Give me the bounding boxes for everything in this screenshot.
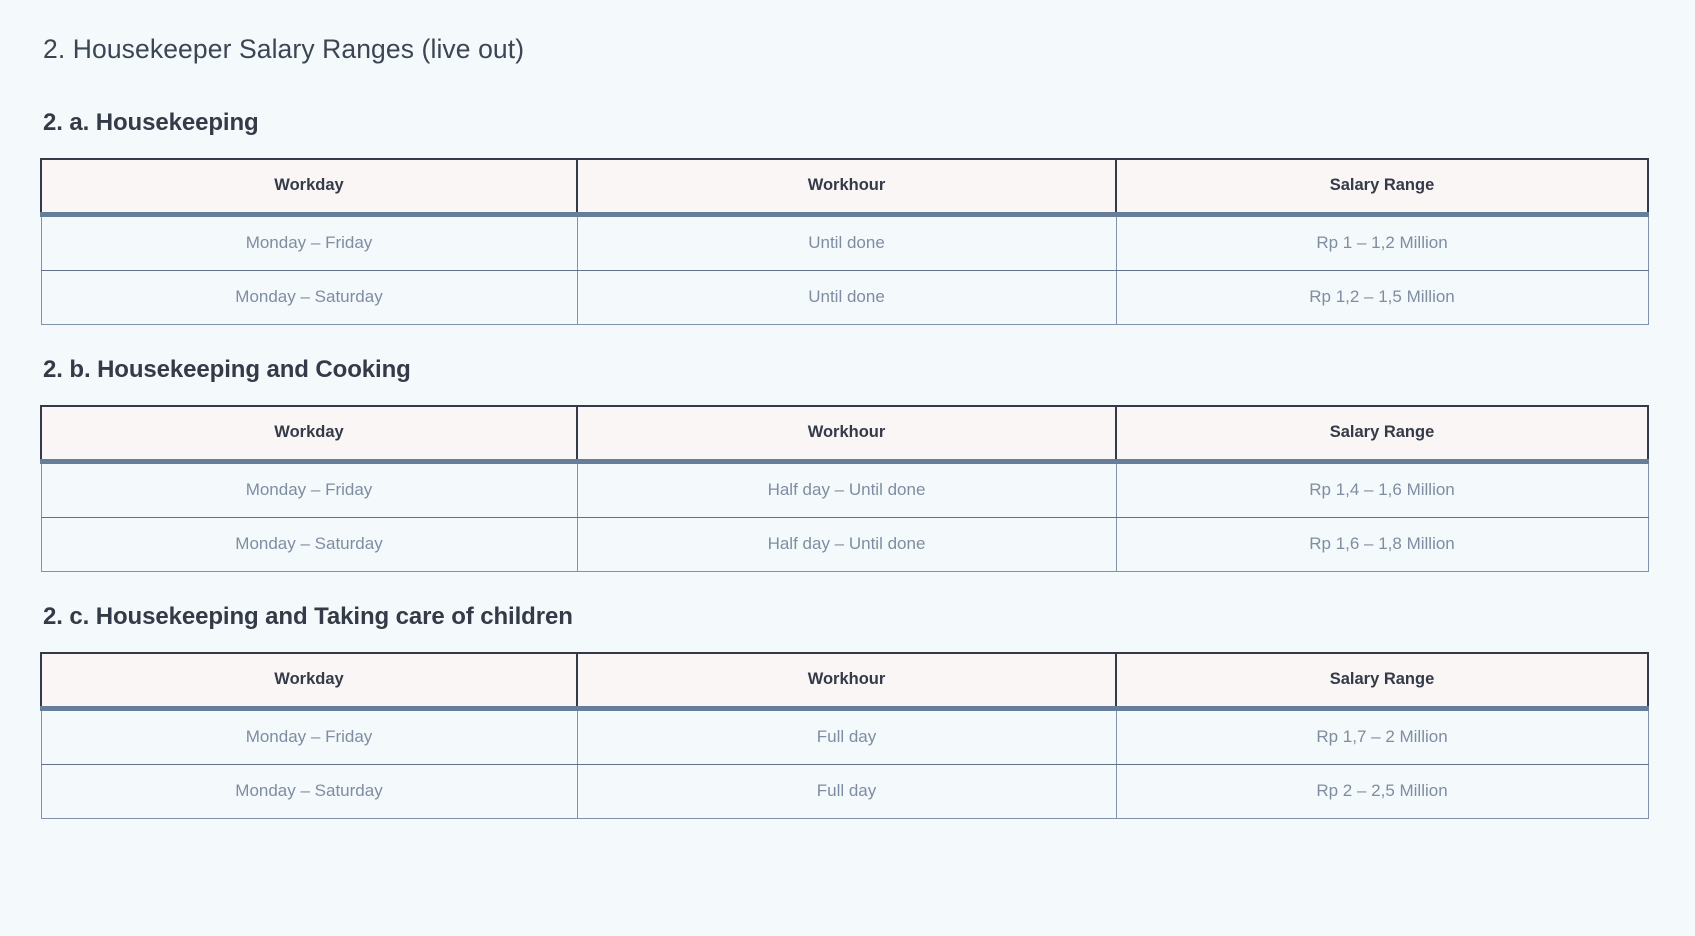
section-heading: 2. b. Housekeeping and Cooking [43, 355, 1645, 385]
table-header-row: Workday Workhour Salary Range [41, 159, 1648, 215]
page-title: 2. Housekeeper Salary Ranges (live out) [43, 22, 1645, 66]
table-row: Monday – Saturday Full day Rp 2 – 2,5 Mi… [41, 765, 1648, 819]
column-header-salary-range: Salary Range [1116, 406, 1648, 462]
table-header-row: Workday Workhour Salary Range [41, 406, 1648, 462]
section-heading: 2. c. Housekeeping and Taking care of ch… [43, 602, 1645, 632]
table-row: Monday – Friday Half day – Until done Rp… [41, 462, 1648, 518]
column-header-workday: Workday [41, 406, 577, 462]
table-header-row: Workday Workhour Salary Range [41, 653, 1648, 709]
section-housekeeping: 2. a. Housekeeping Workday Workhour Sala… [40, 108, 1645, 325]
cell-workday: Monday – Saturday [41, 518, 577, 572]
cell-workhour: Full day [577, 765, 1116, 819]
cell-salary: Rp 2 – 2,5 Million [1116, 765, 1648, 819]
cell-workhour: Half day – Until done [577, 462, 1116, 518]
cell-salary: Rp 1,4 – 1,6 Million [1116, 462, 1648, 518]
cell-salary: Rp 1,6 – 1,8 Million [1116, 518, 1648, 572]
cell-workhour: Full day [577, 709, 1116, 765]
table-row: Monday – Saturday Half day – Until done … [41, 518, 1648, 572]
column-header-salary-range: Salary Range [1116, 159, 1648, 215]
salary-table-housekeeping-childcare: Workday Workhour Salary Range Monday – F… [40, 652, 1649, 819]
cell-salary: Rp 1,2 – 1,5 Million [1116, 271, 1648, 325]
column-header-salary-range: Salary Range [1116, 653, 1648, 709]
document-page: 2. Housekeeper Salary Ranges (live out) … [0, 0, 1695, 839]
cell-workhour: Until done [577, 215, 1116, 271]
section-housekeeping-cooking: 2. b. Housekeeping and Cooking Workday W… [40, 355, 1645, 572]
salary-table-housekeeping: Workday Workhour Salary Range Monday – F… [40, 158, 1649, 325]
cell-workday: Monday – Friday [41, 462, 577, 518]
section-heading: 2. a. Housekeeping [43, 108, 1645, 138]
cell-salary: Rp 1 – 1,2 Million [1116, 215, 1648, 271]
column-header-workhour: Workhour [577, 653, 1116, 709]
section-housekeeping-childcare: 2. c. Housekeeping and Taking care of ch… [40, 602, 1645, 819]
cell-workhour: Half day – Until done [577, 518, 1116, 572]
table-row: Monday – Friday Full day Rp 1,7 – 2 Mill… [41, 709, 1648, 765]
column-header-workhour: Workhour [577, 159, 1116, 215]
salary-table-housekeeping-cooking: Workday Workhour Salary Range Monday – F… [40, 405, 1649, 572]
cell-workday: Monday – Friday [41, 709, 577, 765]
cell-workday: Monday – Friday [41, 215, 577, 271]
table-row: Monday – Friday Until done Rp 1 – 1,2 Mi… [41, 215, 1648, 271]
cell-workday: Monday – Saturday [41, 271, 577, 325]
column-header-workhour: Workhour [577, 406, 1116, 462]
column-header-workday: Workday [41, 159, 577, 215]
cell-workday: Monday – Saturday [41, 765, 577, 819]
table-row: Monday – Saturday Until done Rp 1,2 – 1,… [41, 271, 1648, 325]
cell-workhour: Until done [577, 271, 1116, 325]
cell-salary: Rp 1,7 – 2 Million [1116, 709, 1648, 765]
column-header-workday: Workday [41, 653, 577, 709]
